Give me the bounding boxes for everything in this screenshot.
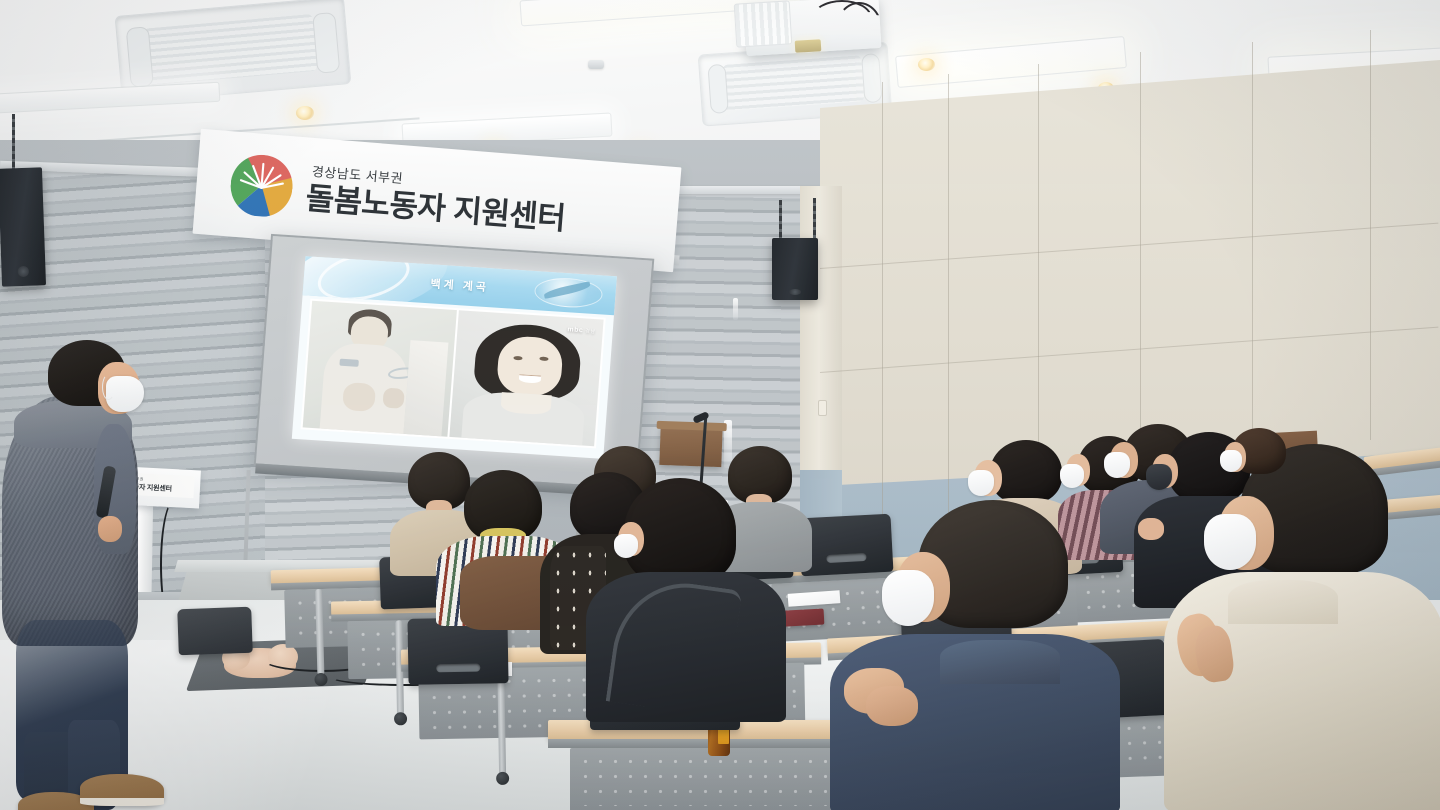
ceiling-downlight-4: [918, 58, 935, 71]
broadcaster-watermark: mbc경남: [567, 326, 596, 335]
slide-right-frame: mbc경남: [449, 310, 603, 446]
wall-seam-v4: [1140, 52, 1141, 482]
speaker-chain-right-2: [813, 198, 816, 240]
slide-video-area: mbc경남: [300, 299, 605, 449]
wall-seam-v6: [1370, 30, 1371, 440]
wall-speaker-right: [772, 238, 818, 300]
chair-12: [177, 607, 253, 656]
slide-left-frame: [303, 301, 457, 437]
audience-member-13-partial: [1224, 428, 1294, 498]
audience-member-6: [596, 478, 776, 718]
wall-seam-v5: [1252, 42, 1253, 462]
speaker-chain-left: [12, 114, 15, 172]
blind-light-gap-4: [733, 298, 738, 320]
ceiling-downlight-1: [296, 106, 314, 120]
seminar-room-photo: 경상남도 서부권 돌봄노동자 지원센터 백계 계곡: [0, 0, 1440, 810]
wall-speaker-left: [0, 167, 46, 286]
audience-member-12: [1176, 444, 1440, 810]
speaker-chain-right-1: [779, 200, 782, 240]
sprinkler-head: [588, 60, 604, 69]
wall-outlet: [818, 400, 827, 416]
projected-slide: 백계 계곡: [292, 256, 617, 458]
projector-vent-grille: [734, 0, 793, 47]
sunburst-rays-icon: [228, 152, 295, 219]
presenter-shoe-right: [80, 774, 164, 806]
center-logo: [228, 152, 295, 219]
presenter: [2, 340, 182, 810]
wall-seam-v2: [948, 74, 949, 534]
wall-seam-v1: [882, 82, 883, 552]
audience-member-11: [820, 500, 1120, 810]
projector-lens: [795, 39, 822, 53]
